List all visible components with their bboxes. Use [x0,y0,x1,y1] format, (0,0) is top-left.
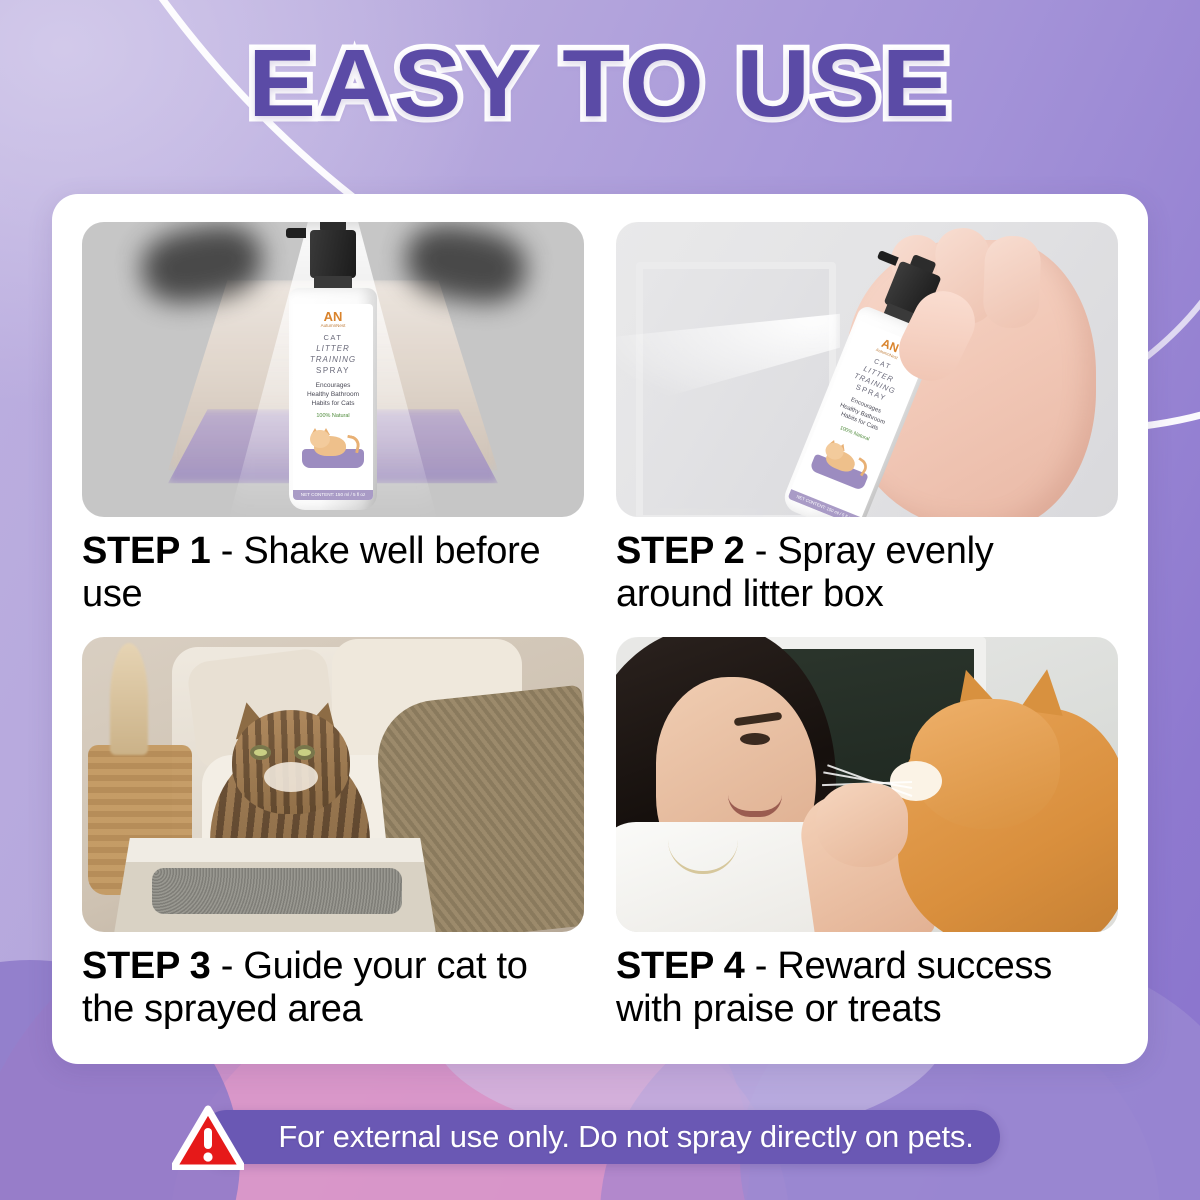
brand-logo-monogram: AN [293,310,373,323]
steps-card: AN AutumnNest CAT LITTER TRAINING SPRAY … [52,194,1148,1064]
finger-3 [982,235,1041,329]
brand-name: AutumnNest [293,323,373,329]
step-1-separator: - [210,530,243,572]
step-2: AN AutumnNest CAT LITTER TRAINING SPRAY … [616,222,1118,629]
illustration-cat-head [310,430,330,448]
tabby-cat-eye-left [250,745,271,760]
tabby-cat-muzzle [264,762,318,792]
step-1: AN AutumnNest CAT LITTER TRAINING SPRAY … [82,222,584,629]
step-4-separator: - [744,945,777,987]
warning-text: For external use only. Do not spray dire… [278,1119,973,1155]
ginger-cat-head [910,699,1060,829]
step-4-label: STEP 4 [616,945,744,987]
label-line-1: CAT [293,333,373,343]
woman-eye [740,733,770,745]
step-1-caption: STEP 1 - Shake well before use [82,530,584,615]
step-4: STEP 4 - Reward success with praise or t… [616,637,1118,1044]
woman-hand-with-treat [816,783,908,867]
tabby-cat-eye-right [294,745,315,760]
cat-in-litter-box-photo [82,637,584,932]
step-2-label: STEP 2 [616,530,744,572]
woman-rewarding-cat-photo [616,637,1118,932]
hand-spraying-bottle-photo: AN AutumnNest CAT LITTER TRAINING SPRAY … [616,222,1118,517]
bottle-nozzle [286,228,306,238]
page-title-container: EASY TO USE [0,34,1200,135]
cat-in-litter-box-illustration [302,424,364,468]
warning-banner: For external use only. Do not spray dire… [200,1110,999,1164]
label-line-3: SPRAY [293,365,373,376]
step-3-label: STEP 3 [82,945,210,987]
step-3: STEP 3 - Guide your cat to the sprayed a… [82,637,584,1044]
warning-banner-container: For external use only. Do not spray dire… [0,1110,1200,1164]
step-3-separator: - [210,945,243,987]
benefit-line-2: Healthy Bathroom [293,390,373,399]
bottle-nozzle [877,250,899,266]
page-title: EASY TO USE [248,34,952,135]
benefit-line-3: Habits for Cats [293,399,373,408]
natural-badge: 100% Natural [293,412,373,420]
steps-grid: AN AutumnNest CAT LITTER TRAINING SPRAY … [52,194,1148,1064]
dried-pampas-grass [110,643,148,755]
step-1-label: STEP 1 [82,530,210,572]
net-content-text: NET CONTENT: 150 ml / 5 fl oz [293,490,373,500]
step-3-caption: STEP 3 - Guide your cat to the sprayed a… [82,945,584,1030]
step-2-separator: - [744,530,777,572]
warning-triangle-icon [172,1104,244,1170]
litter-granules [152,868,402,914]
step-2-caption: STEP 2 - Spray evenly around litter box [616,530,1118,615]
step-4-caption: STEP 4 - Reward success with praise or t… [616,945,1118,1030]
label-line-2: LITTER TRAINING [293,343,373,365]
product-label: AN AutumnNest CAT LITTER TRAINING SPRAY … [293,304,373,500]
benefit-line-1: Encourages [293,381,373,390]
bottle-cap [310,230,356,278]
product-bottle: AN AutumnNest CAT LITTER TRAINING SPRAY … [258,222,408,517]
spray-bottle-shaking-photo: AN AutumnNest CAT LITTER TRAINING SPRAY … [82,222,584,517]
